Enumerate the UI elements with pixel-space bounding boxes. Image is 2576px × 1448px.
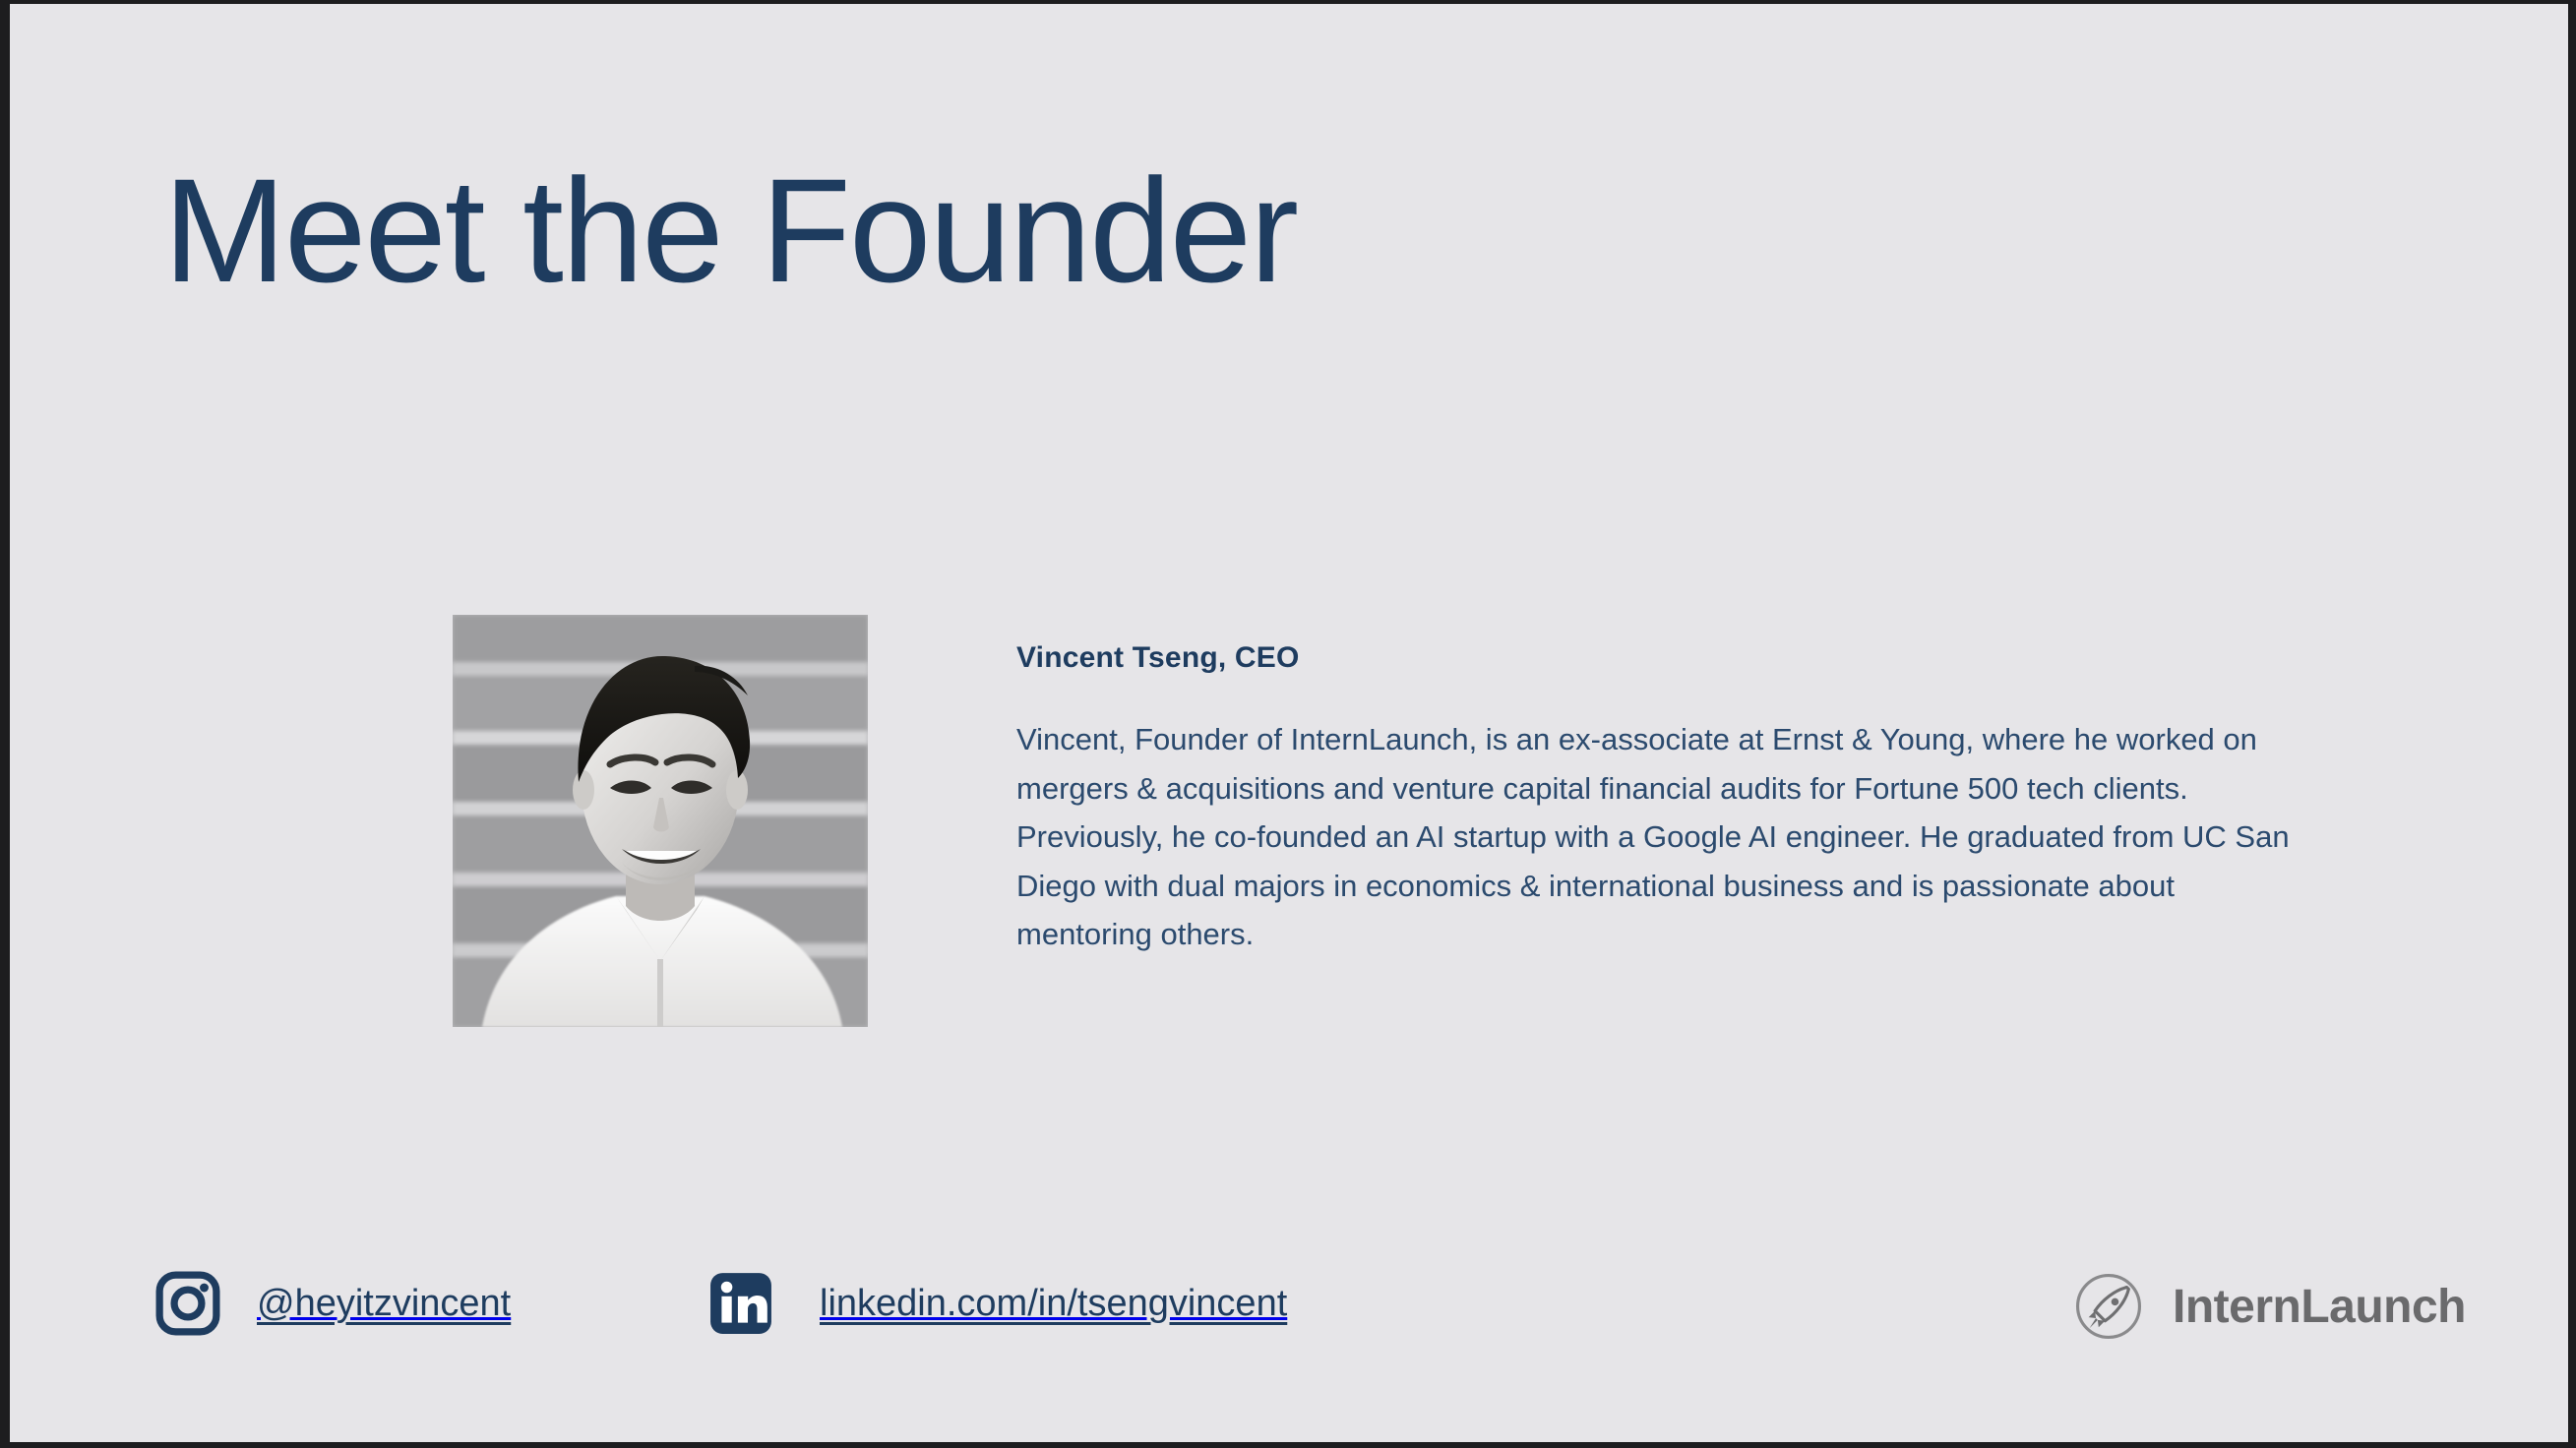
brand-name-label: InternLaunch — [2173, 1280, 2466, 1334]
linkedin-url-label: linkedin.com/in/tsengvincent — [820, 1283, 1287, 1325]
rocket-in-circle-icon — [2072, 1270, 2145, 1343]
linkedin-link[interactable]: linkedin.com/in/tsengvincent — [708, 1271, 1287, 1336]
founder-name-title: Vincent Tseng, CEO — [1016, 641, 1300, 675]
founder-portrait-illustration — [453, 615, 868, 1027]
founder-bio-text: Vincent, Founder of InternLaunch, is an … — [1016, 715, 2315, 959]
instagram-handle-label: @heyitzvincent — [257, 1283, 511, 1325]
linkedin-icon — [708, 1271, 773, 1336]
brand-lockup: InternLaunch — [2072, 1270, 2466, 1343]
instagram-link[interactable]: @heyitzvincent — [155, 1271, 511, 1336]
slide-canvas: Meet the Founder — [0, 0, 2576, 1448]
instagram-icon — [155, 1271, 220, 1336]
founder-photo — [453, 615, 868, 1027]
page-title: Meet the Founder — [163, 153, 1297, 309]
